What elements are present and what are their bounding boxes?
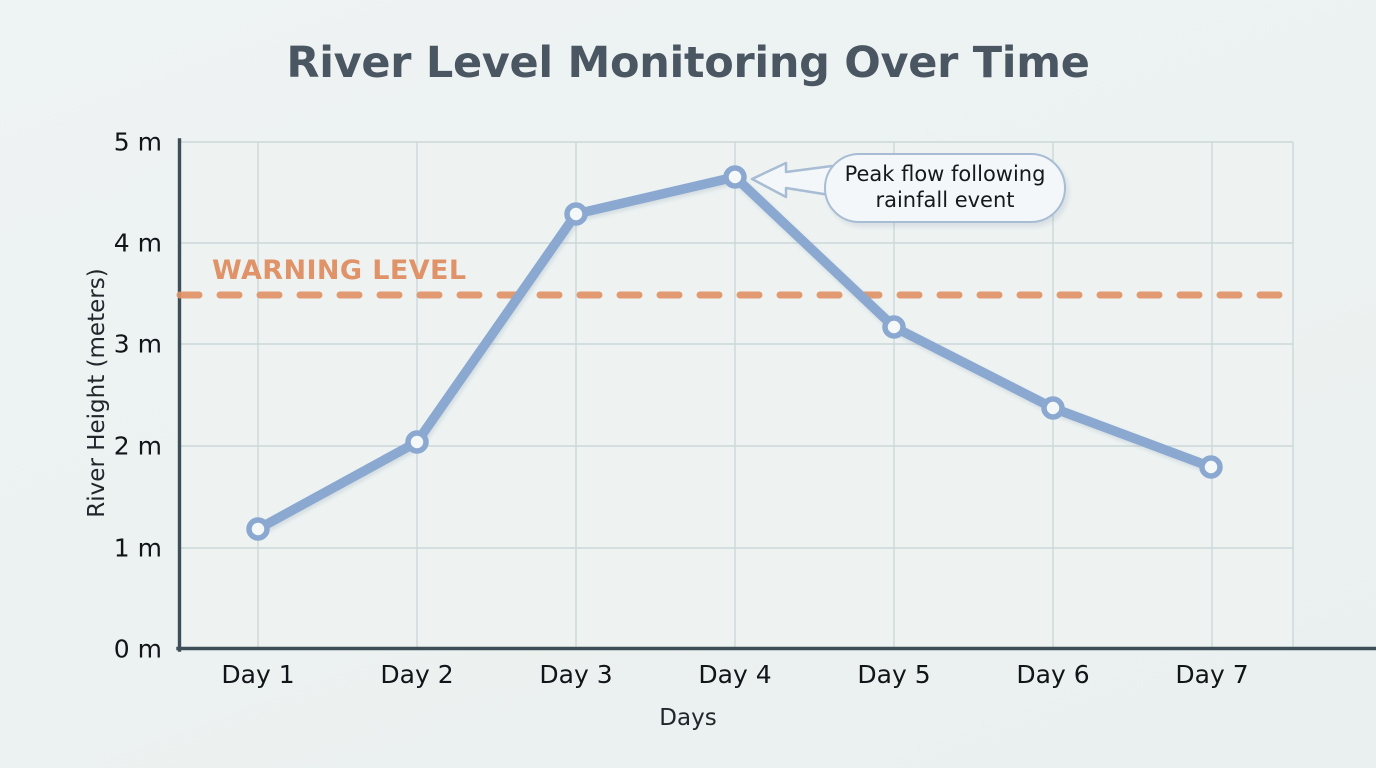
data-point-day-5[interactable] — [885, 318, 903, 336]
y-tick-5m: 5 m — [82, 128, 162, 157]
x-tick-day-7: Day 7 — [1132, 660, 1292, 689]
x-tick-day-2: Day 2 — [337, 660, 497, 689]
y-tick-labels: 5 m 4 m 3 m 2 m 1 m 0 m — [82, 0, 162, 768]
annotation-callout-text: Peak flow following rainfall event — [845, 162, 1046, 213]
data-point-day-7[interactable] — [1202, 458, 1220, 476]
annotation-line-1: Peak flow following — [845, 162, 1046, 186]
y-tick-2m: 2 m — [82, 432, 162, 461]
x-tick-day-1: Day 1 — [178, 660, 338, 689]
y-tick-0m: 0 m — [82, 635, 162, 664]
x-tick-day-3: Day 3 — [496, 660, 656, 689]
x-tick-day-6: Day 6 — [973, 660, 1133, 689]
y-tick-1m: 1 m — [82, 534, 162, 563]
data-point-day-4[interactable] — [726, 168, 744, 186]
y-tick-4m: 4 m — [82, 229, 162, 258]
y-tick-3m: 3 m — [82, 330, 162, 359]
x-tick-day-4: Day 4 — [655, 660, 815, 689]
data-point-day-6[interactable] — [1044, 399, 1062, 417]
data-point-day-3[interactable] — [567, 205, 585, 223]
x-tick-day-5: Day 5 — [814, 660, 974, 689]
data-point-day-1[interactable] — [249, 520, 267, 538]
chart-canvas: River Level Monitoring Over Time River H… — [0, 0, 1376, 768]
data-point-day-2[interactable] — [408, 433, 426, 451]
plot-svg — [0, 0, 1376, 768]
annotation-callout: Peak flow following rainfall event — [824, 153, 1066, 223]
annotation-line-2: rainfall event — [875, 188, 1014, 212]
warning-level-label: WARNING LEVEL — [212, 255, 466, 286]
